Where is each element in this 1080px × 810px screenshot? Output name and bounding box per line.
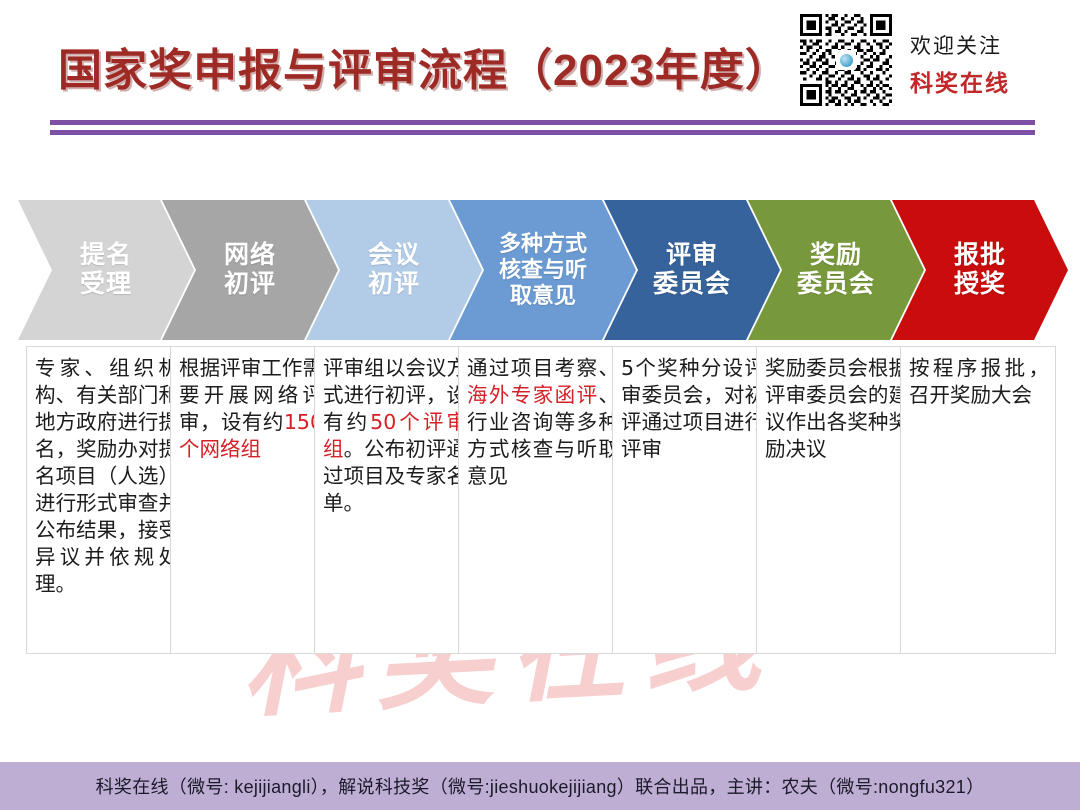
footer-credits: 科奖在线（微号: kejijiangli），解说科技奖（微号:jieshuoke…: [96, 773, 985, 799]
description-text: 专家、组织机构、有关部门和地方政府进行提名，奖励办对提名项目（人选）进行形式审查…: [35, 356, 179, 596]
stage-description-2: 根据评审工作需要开展网络评审，设有约150个网络组: [170, 346, 330, 654]
stage-label-line: 受理: [80, 270, 132, 300]
footer-bar: 科奖在线（微号: kejijiangli），解说科技奖（微号:jieshuoke…: [0, 762, 1080, 810]
header: 国家奖申报与评审流程（2023年度）: [0, 0, 1080, 140]
stage-description-5: 5个奖种分设评审委员会，对初评通过项目进行评审: [612, 346, 772, 654]
stage-description-3: 评审组以会议方式进行初评，设有约50个评审组。公布初评通过项目及专家名单。: [314, 346, 474, 654]
stage-label-3: 会议初评: [362, 241, 426, 300]
description-text: 奖励委员会根据评审委员会的建议作出各奖种奖励决议: [765, 356, 909, 461]
description-text: 按程序报批，召开奖励大会: [909, 356, 1049, 407]
stage-label-line: 会议: [368, 241, 420, 271]
stage-description-1: 专家、组织机构、有关部门和地方政府进行提名，奖励办对提名项目（人选）进行形式审查…: [26, 346, 186, 654]
brand-label: 科奖在线: [910, 64, 1070, 98]
stage-label-line: 网络: [224, 241, 276, 271]
process-flow: 提名受理专家、组织机构、有关部门和地方政府进行提名，奖励办对提名项目（人选）进行…: [0, 200, 1080, 660]
stage-label-line: 多种方式: [499, 231, 587, 257]
qr-code-icon[interactable]: [800, 14, 892, 106]
stage-label-5: 评审委员会: [647, 241, 737, 300]
stage-label-line: 报批: [954, 241, 1006, 271]
stage-label-4: 多种方式核查与听取意见: [493, 231, 593, 309]
stage-label-line: 取意见: [499, 283, 587, 309]
qr-caption: 欢迎关注 科奖在线: [910, 30, 1070, 98]
description-highlight: 海外专家函评: [467, 383, 599, 407]
divider-line-bottom: [50, 130, 1035, 135]
description-text: 。公布初评通过项目及专家名单。: [323, 437, 467, 515]
stage-label-line: 授奖: [954, 270, 1006, 300]
description-text: 5个奖种分设评审委员会，对初评通过项目进行评审: [621, 356, 765, 461]
stage-label-line: 委员会: [797, 270, 875, 300]
stage-label-line: 核查与听: [499, 257, 587, 283]
description-text: 通过项目考察、: [467, 356, 619, 380]
qr-block: 欢迎关注 科奖在线: [800, 14, 1070, 114]
stage-label-7: 报批授奖: [948, 241, 1012, 300]
stage-label-6: 奖励委员会: [791, 241, 881, 300]
stage-chevron-1[interactable]: 提名受理: [18, 200, 194, 340]
stage-label-line: 奖励: [797, 241, 875, 271]
stage-label-2: 网络初评: [218, 241, 282, 300]
qr-center-logo-icon: [836, 50, 856, 70]
stage-label-line: 委员会: [653, 270, 731, 300]
stage-description-7: 按程序报批，召开奖励大会: [900, 346, 1056, 654]
stage-label-1: 提名受理: [74, 241, 138, 300]
divider-line-top: [50, 120, 1035, 125]
stage-label-line: 提名: [80, 241, 132, 271]
stage-label-line: 初评: [368, 270, 420, 300]
stage-description-6: 奖励委员会根据评审委员会的建议作出各奖种奖励决议: [756, 346, 916, 654]
stage-label-line: 评审: [653, 241, 731, 271]
stage-description-4: 通过项目考察、海外专家函评、行业咨询等多种方式核查与听取意见: [458, 346, 626, 654]
stage-label-line: 初评: [224, 270, 276, 300]
page-title: 国家奖申报与评审流程（2023年度）: [58, 34, 790, 98]
welcome-label: 欢迎关注: [910, 30, 1070, 60]
